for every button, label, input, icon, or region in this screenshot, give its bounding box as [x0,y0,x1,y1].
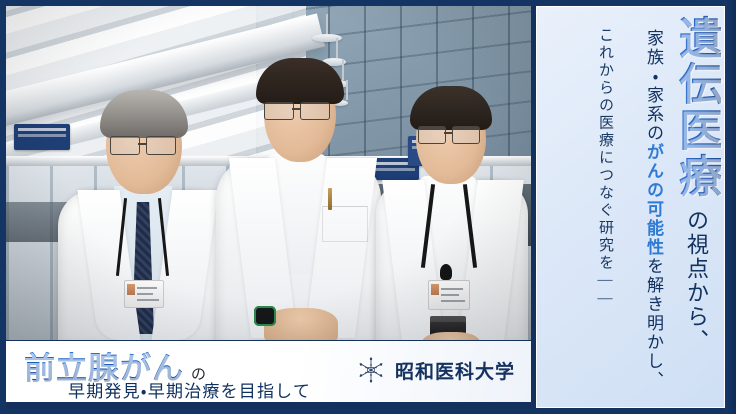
frame-bottom-edge [0,409,736,414]
doctor-center [206,58,391,340]
vertical-copy-column-three: これからの医療につなぐ研究を—— [597,27,612,309]
vertical-copy-three-text: これからの医療につなぐ研究を [597,27,613,272]
showa-medical-university-emblem-icon [356,355,386,385]
vertical-copy-tail: を解き明かし、 [644,257,663,390]
vertical-copy-panel: 遺伝医療の視点から、 家族・家系のがんの可能性を解き明かし、 これからの医療につ… [536,6,725,408]
brand-name: 昭和医科大学 [395,357,515,384]
brand-lockup: 昭和医科大学 [356,355,515,385]
eyeglasses-bridge [444,132,452,134]
doctor-right [376,88,526,340]
vertical-headline-column: 遺伝医療の視点から、 [674,15,718,353]
bottom-title-banner: 前立腺がん の 早期発見・早期治療を目指して [6,341,531,402]
hair [100,90,188,138]
eyeglasses-left-lens [418,126,446,144]
vertical-copy-highlight: がんの可能性 [644,143,663,257]
hair [256,58,344,104]
vertical-copy-em-dash: —— [597,272,612,309]
lanyard-knot [440,264,452,280]
eyeglasses-right-lens [452,126,480,144]
eyeglasses-right-lens [300,102,330,120]
banner-subline: 早期発見・早期治療を目指して [68,377,311,402]
vertical-copy-lead: 家族・家系の [644,29,663,143]
vertical-copy-column-two: 家族・家系のがんの可能性を解き明かし、 [645,29,662,390]
pen [328,188,332,210]
eyeglasses-bridge [138,143,146,145]
eyeglasses-left-lens [264,102,294,120]
id-badge [124,280,164,308]
eyeglasses-bridge [292,108,300,110]
hair [410,86,492,130]
eyeglasses-left-lens [110,136,140,155]
vertical-headline-main: 遺伝医療 [672,15,721,199]
slide-canvas: 前立腺がん の 早期発見・早期治療を目指して [0,0,736,414]
doctor-left [58,94,228,340]
id-badge [428,280,470,310]
frame-right-edge [725,0,736,414]
coat-pocket [322,206,368,242]
smart-watch [254,306,276,326]
vertical-headline-tail: の視点から、 [685,209,707,353]
eyeglasses-right-lens [146,136,176,155]
group-photo [6,6,531,340]
